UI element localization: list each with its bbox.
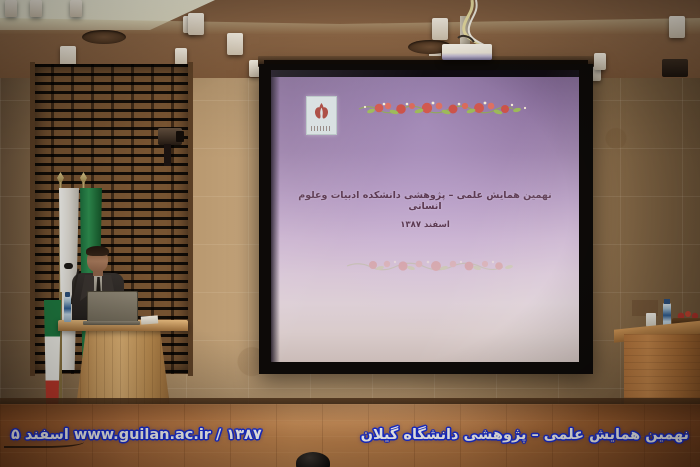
slide-title-text: نهمین همایش علمی – پژوهشی دانشکده ادبیات…: [285, 190, 565, 212]
projection-screen: نهمین همایش علمی – پژوهشی دانشکده ادبیات…: [271, 70, 579, 362]
water-bottle-cap: [664, 299, 670, 304]
downlight-icon: [188, 13, 204, 35]
slide-date-text: اسفند ۱۳۸۷: [285, 220, 565, 230]
downlight-icon: [669, 16, 685, 38]
logo-mark-icon: [311, 101, 332, 121]
downlight-icon: [70, 0, 82, 17]
screenshot-root: نهمین همایش علمی – پژوهشی دانشکده ادبیات…: [0, 0, 700, 467]
university-of-guilan-logo: [306, 96, 337, 135]
downlight-icon: [5, 0, 17, 17]
floral-ornament-icon: [343, 258, 529, 272]
ceiling-air-diffuser: [82, 30, 126, 44]
microphone-icon: [64, 263, 73, 269]
logo-caption-strip: [311, 126, 332, 131]
screen-left-shadow: [271, 70, 280, 362]
downlight-icon: [227, 33, 243, 55]
downlight-icon: [30, 0, 42, 17]
floral-ornament-icon: [357, 100, 531, 116]
camera-lens-icon: [176, 131, 184, 142]
presenter-laptop: [87, 291, 138, 324]
water-bottle-cap: [65, 292, 70, 297]
water-bottle: [64, 296, 71, 322]
slat-panel-frame: [30, 62, 35, 376]
downlight-icon: [432, 18, 448, 40]
downlight-icon: [175, 48, 187, 65]
screen-top-band: [271, 70, 579, 77]
caption-right-text: نهمین همایش علمی – پژوهشی دانشگاه گیلان: [361, 427, 689, 443]
downlight-icon: [594, 53, 606, 70]
laptop-base: [83, 321, 140, 325]
papers-on-podium: [141, 315, 159, 324]
wall-speaker: [662, 59, 688, 77]
caption-left-text: www.guilan.ac.ir / ۱۳۸۷ اسفند ۵: [11, 427, 262, 443]
camera-mount-arm: [164, 144, 171, 166]
slat-panel-frame: [188, 62, 193, 376]
audience-member-head: [296, 452, 330, 467]
presenter-hair: [86, 246, 109, 256]
ceiling-projector: [442, 44, 492, 60]
projector-cable: [452, 0, 494, 50]
